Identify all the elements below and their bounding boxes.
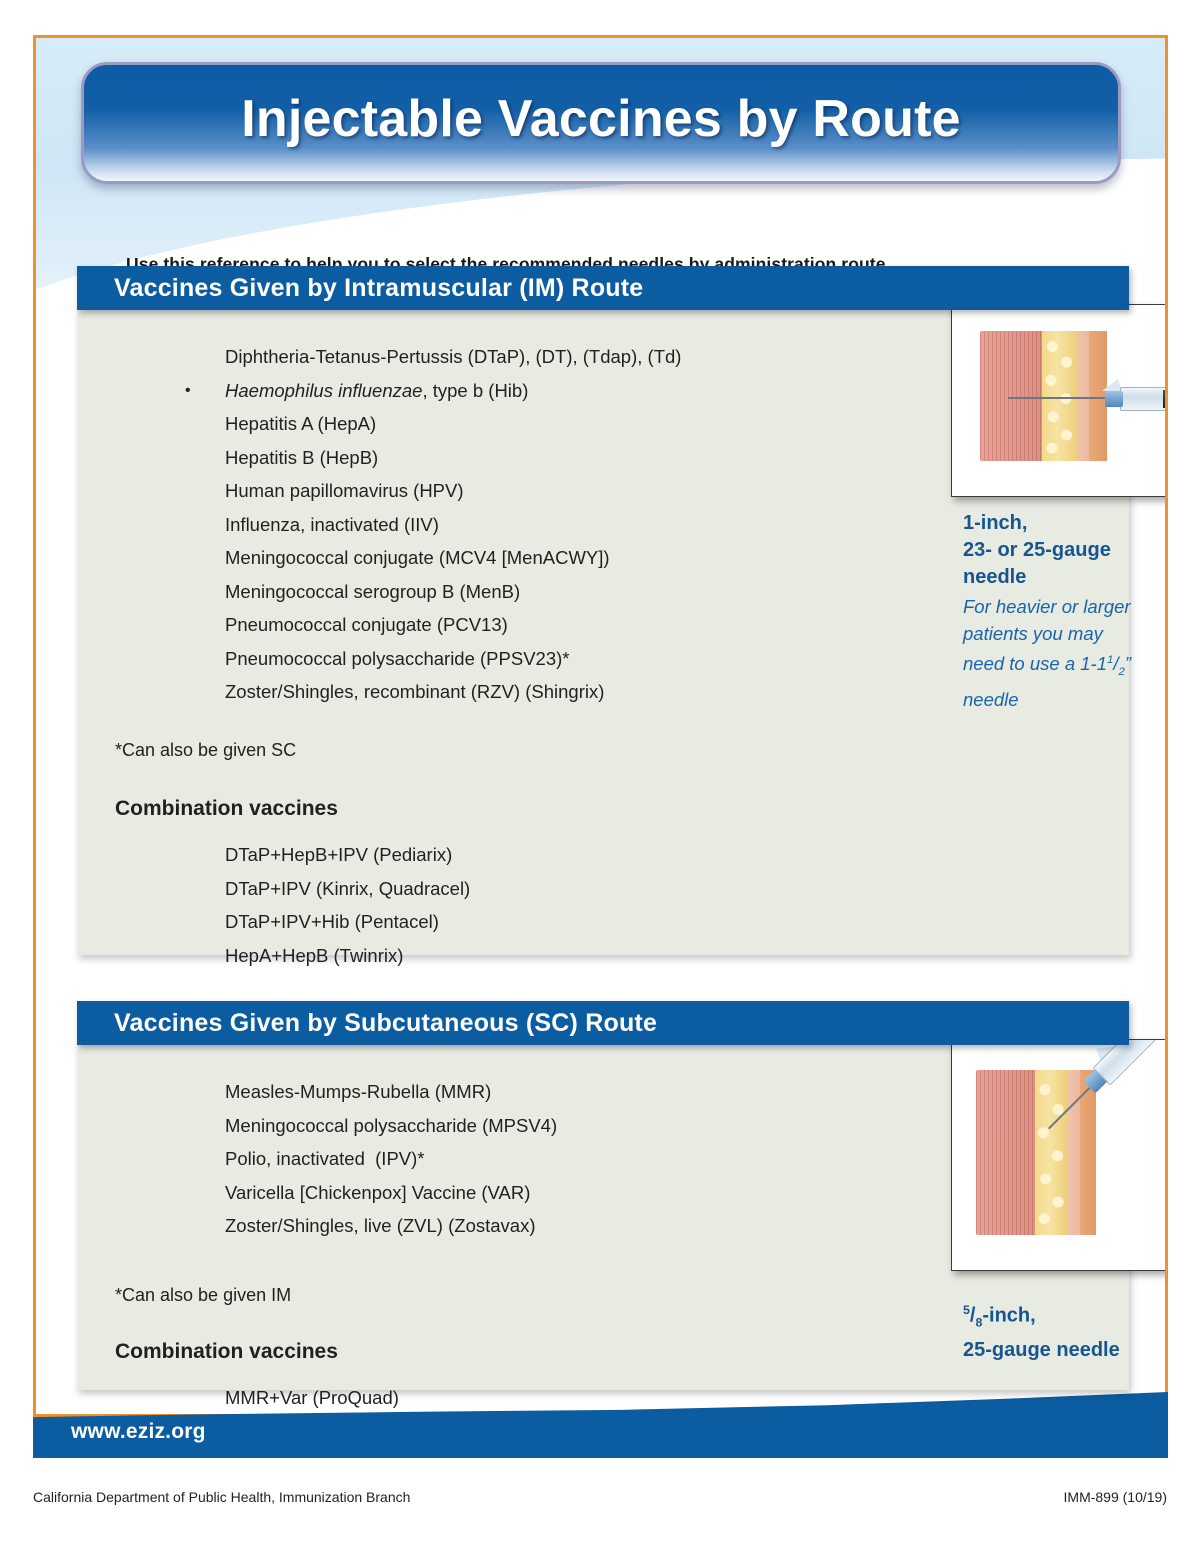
needle-wing-im bbox=[1102, 379, 1122, 391]
page-frame: Injectable Vaccines by Route Use this re… bbox=[33, 35, 1168, 1417]
section-body-im: Diphtheria-Tetanus-Pertussis (DTaP), (DT… bbox=[77, 310, 1129, 955]
vaccine-name-scientific: Haemophilus influenzae bbox=[225, 380, 422, 401]
dermis-layer bbox=[1068, 1070, 1080, 1235]
section-header-sc: Vaccines Given by Subcutaneous (SC) Rout… bbox=[77, 1001, 1129, 1045]
needle-callout-im: 1-inch, 23- or 25-gauge needle For heavi… bbox=[963, 510, 1168, 713]
sc-injection-diagram bbox=[951, 1039, 1168, 1271]
vaccine-list-item: Hepatitis B (HepB) bbox=[225, 441, 681, 475]
vaccine-name: Measles-Mumps-Rubella (MMR) bbox=[225, 1081, 491, 1102]
vaccine-name: Diphtheria-Tetanus-Pertussis (DTaP), (DT… bbox=[225, 346, 681, 367]
footer-band: www.eziz.org bbox=[33, 1388, 1168, 1458]
fat-layer bbox=[1035, 1070, 1068, 1235]
vaccine-name: Hepatitis A (HepA) bbox=[225, 413, 376, 434]
syringe-hub-im bbox=[1105, 391, 1123, 407]
combo-list-item: DTaP+HepB+IPV (Pediarix) bbox=[225, 838, 470, 872]
combo-list-im: DTaP+HepB+IPV (Pediarix)DTaP+IPV (Kinrix… bbox=[225, 838, 470, 972]
vaccine-name: Pneumococcal conjugate (PCV13) bbox=[225, 614, 508, 635]
vaccine-list-item: Diphtheria-Tetanus-Pertussis (DTaP), (DT… bbox=[225, 340, 681, 374]
vaccine-name-suffix: , type b (Hib) bbox=[422, 380, 528, 401]
needle-callout-sc: 5/8-inch, 25-gauge needle bbox=[963, 1297, 1168, 1364]
vaccine-list-im: Diphtheria-Tetanus-Pertussis (DTaP), (DT… bbox=[225, 340, 681, 709]
footer-document-id: IMM-899 (10/19) bbox=[1064, 1489, 1167, 1505]
vaccine-list-item: Measles-Mumps-Rubella (MMR) bbox=[225, 1075, 557, 1109]
vaccine-list-item: Pneumococcal conjugate (PCV13) bbox=[225, 608, 681, 642]
vaccine-name: Varicella [Chickenpox] Vaccine (VAR) bbox=[225, 1182, 530, 1203]
callout-line-2-im: 23- or 25-gauge bbox=[963, 537, 1168, 564]
callout-line-1-im: 1-inch, bbox=[963, 510, 1168, 537]
section-title-im: Vaccines Given by Intramuscular (IM) Rou… bbox=[114, 274, 643, 303]
vaccine-name: Meningococcal conjugate (MCV4 [MenACWY]) bbox=[225, 547, 610, 568]
section-title-sc: Vaccines Given by Subcutaneous (SC) Rout… bbox=[114, 1009, 657, 1038]
vaccine-list-item: Influenza, inactivated (IIV) bbox=[225, 508, 681, 542]
footer-website-link[interactable]: www.eziz.org bbox=[71, 1420, 206, 1444]
combo-list-item: HepA+HepB (Twinrix) bbox=[225, 939, 470, 973]
syringe-plunger-im bbox=[1163, 390, 1168, 408]
dermis-layer bbox=[1077, 331, 1089, 461]
callout-note-im: For heavier or larger patients you may n… bbox=[963, 593, 1168, 713]
callout-sc-num: 5 bbox=[963, 1303, 970, 1317]
vaccine-list-item: Hepatitis A (HepA) bbox=[225, 407, 681, 441]
vaccine-list-item: Zoster/Shingles, recombinant (RZV) (Shin… bbox=[225, 675, 681, 709]
footnote-im: *Can also be given SC bbox=[115, 740, 296, 761]
footer-agency: California Department of Public Health, … bbox=[33, 1489, 410, 1505]
vaccine-name: Pneumococcal polysaccharide (PPSV23)* bbox=[225, 648, 569, 669]
section-subcutaneous: Vaccines Given by Subcutaneous (SC) Rout… bbox=[77, 1001, 1129, 1390]
vaccine-list-item: Polio, inactivated (IPV)* bbox=[225, 1142, 557, 1176]
callout-line-1-sc: 5/8-inch, bbox=[963, 1297, 1168, 1337]
vaccine-list-item: Varicella [Chickenpox] Vaccine (VAR) bbox=[225, 1176, 557, 1210]
vaccine-name: Human papillomavirus (HPV) bbox=[225, 480, 464, 501]
section-body-sc: Measles-Mumps-Rubella (MMR)Meningococcal… bbox=[77, 1045, 1129, 1390]
callout-note-c-post: ” bbox=[1125, 653, 1131, 674]
fat-layer bbox=[1042, 331, 1077, 461]
vaccine-list-item: Pneumococcal polysaccharide (PPSV23)* bbox=[225, 642, 681, 676]
syringe-barrel-im bbox=[1120, 387, 1168, 411]
vaccine-list-sc: Measles-Mumps-Rubella (MMR)Meningococcal… bbox=[225, 1075, 557, 1243]
vaccine-name: Zoster/Shingles, live (ZVL) (Zostavax) bbox=[225, 1215, 535, 1236]
combo-heading-sc: Combination vaccines bbox=[115, 1340, 338, 1364]
footnote-sc: *Can also be given IM bbox=[115, 1285, 291, 1306]
callout-line-2-sc: 25-gauge needle bbox=[963, 1337, 1168, 1364]
callout-note-line-a: For heavier or larger bbox=[963, 593, 1168, 620]
callout-sc-line1-post: -inch, bbox=[982, 1305, 1035, 1327]
callout-note-c-pre: need to use a 1-1 bbox=[963, 653, 1107, 674]
vaccine-list-item: Meningococcal conjugate (MCV4 [MenACWY]) bbox=[225, 541, 681, 575]
combo-list-sc: MMR+Var (ProQuad) bbox=[225, 1381, 399, 1415]
callout-note-line-b: patients you may bbox=[963, 620, 1168, 647]
vaccine-name: Zoster/Shingles, recombinant (RZV) (Shin… bbox=[225, 681, 604, 702]
section-header-im: Vaccines Given by Intramuscular (IM) Rou… bbox=[77, 266, 1129, 310]
list-bullet-icon: • bbox=[185, 374, 191, 408]
tissue-cross-section-sc bbox=[976, 1070, 1104, 1235]
im-injection-diagram bbox=[951, 304, 1168, 497]
vaccine-list-item: Zoster/Shingles, live (ZVL) (Zostavax) bbox=[225, 1209, 557, 1243]
section-intramuscular: Vaccines Given by Intramuscular (IM) Rou… bbox=[77, 266, 1129, 955]
combo-list-item: MMR+Var (ProQuad) bbox=[225, 1381, 399, 1415]
title-banner: Injectable Vaccines by Route bbox=[81, 62, 1121, 184]
page-title: Injectable Vaccines by Route bbox=[241, 89, 960, 149]
combo-list-item: DTaP+IPV (Kinrix, Quadracel) bbox=[225, 872, 470, 906]
vaccine-name: Meningococcal polysaccharide (MPSV4) bbox=[225, 1115, 557, 1136]
callout-note-line-d: needle bbox=[963, 686, 1168, 713]
vaccine-list-item: Human papillomavirus (HPV) bbox=[225, 474, 681, 508]
combo-list-item: DTaP+IPV+Hib (Pentacel) bbox=[225, 905, 470, 939]
callout-note-line-c: need to use a 1-11/2” bbox=[963, 647, 1168, 686]
muscle-layer bbox=[980, 331, 1042, 461]
vaccine-list-item: •Haemophilus influenzae, type b (Hib) bbox=[225, 374, 681, 408]
vaccine-name: Influenza, inactivated (IIV) bbox=[225, 514, 439, 535]
tissue-cross-section-im bbox=[980, 331, 1115, 461]
callout-line-3-im: needle bbox=[963, 564, 1168, 591]
vaccine-list-item: Meningococcal polysaccharide (MPSV4) bbox=[225, 1109, 557, 1143]
combo-heading-im: Combination vaccines bbox=[115, 797, 338, 821]
callout-note-c-num: 1 bbox=[1107, 654, 1113, 666]
vaccine-name: Meningococcal serogroup B (MenB) bbox=[225, 581, 520, 602]
vaccine-name: Polio, inactivated (IPV)* bbox=[225, 1148, 424, 1169]
muscle-layer bbox=[976, 1070, 1035, 1235]
vaccine-list-item: Meningococcal serogroup B (MenB) bbox=[225, 575, 681, 609]
vaccine-name: Hepatitis B (HepB) bbox=[225, 447, 378, 468]
